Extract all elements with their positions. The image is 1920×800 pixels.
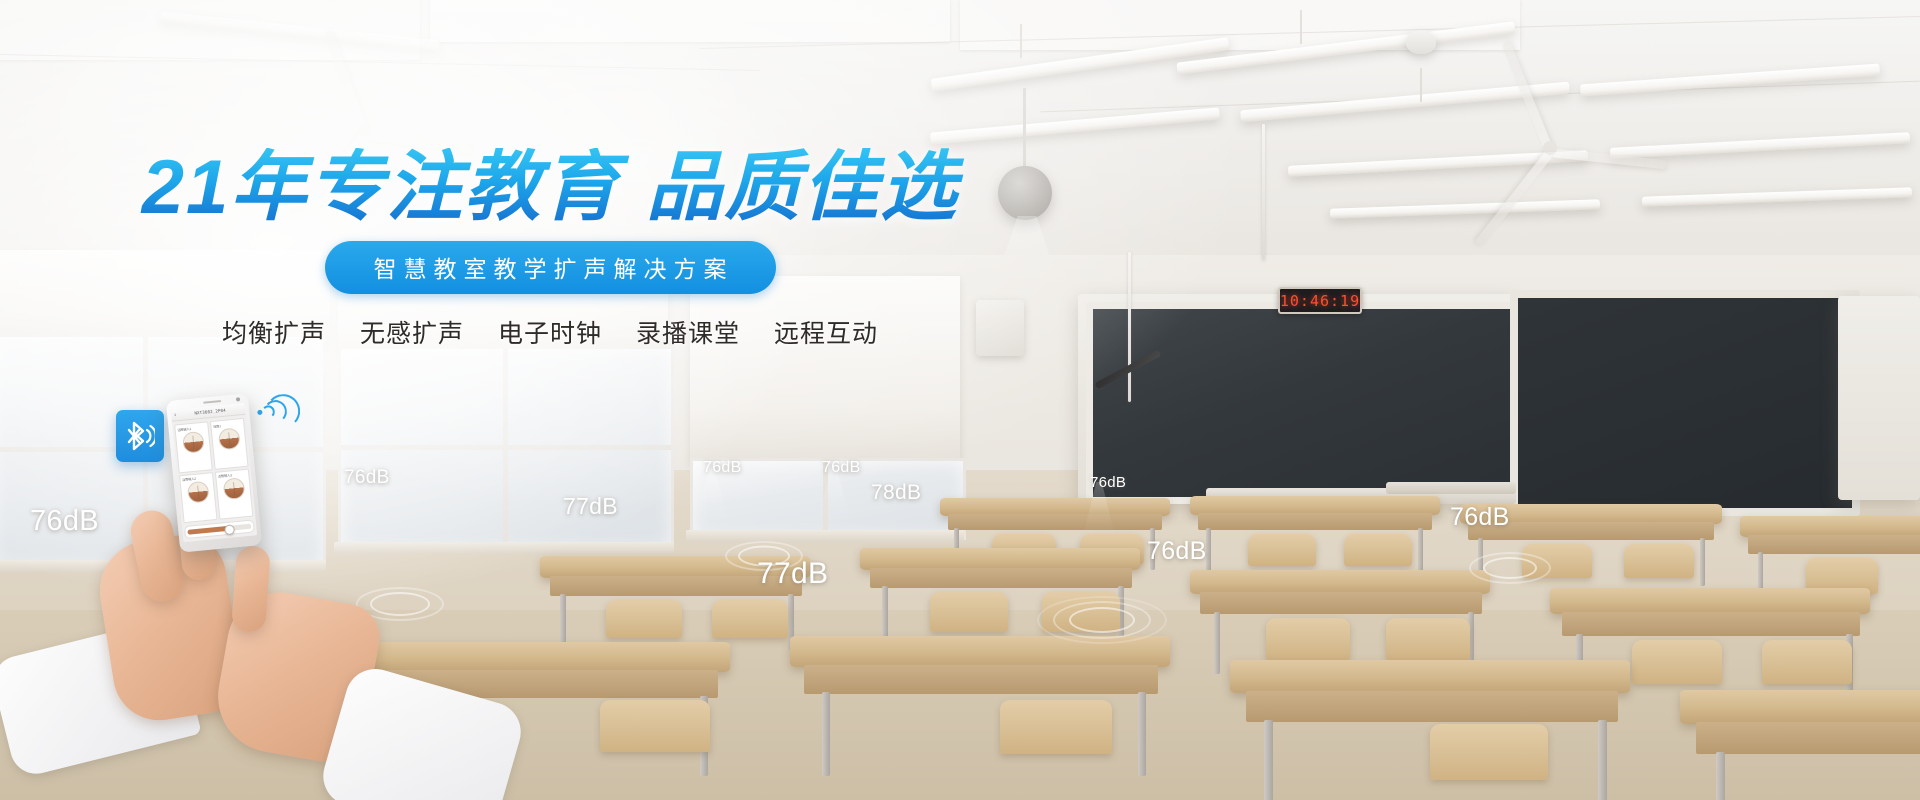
volume-knob[interactable]	[217, 427, 240, 450]
ceiling-fan	[1430, 108, 1670, 188]
feature-item: 远程互动	[774, 314, 878, 350]
channel-card-grid: 话筒输入1线路1话筒输入2话筒输入3	[172, 415, 256, 527]
clock-time: 10:46:19	[1280, 292, 1360, 310]
volume-knob[interactable]	[186, 481, 209, 504]
window-sill	[686, 530, 964, 542]
db-label: 77dB	[757, 557, 828, 591]
db-label: 76dB	[344, 467, 390, 489]
bluetooth-audio-icon	[125, 419, 155, 453]
headline-part-2: 品质佳选	[646, 145, 958, 230]
subtitle-pill: 智慧教室教学扩声解决方案	[325, 241, 776, 294]
smartphone[interactable]: ‹ NXT3602_2P04 话筒输入1线路1话筒输入2话筒输入3	[166, 393, 262, 552]
feature-item: 电子时钟	[498, 314, 602, 350]
back-icon[interactable]: ‹	[174, 412, 177, 418]
channel-card[interactable]: 话筒输入2	[179, 472, 217, 524]
microphone-stand	[1128, 252, 1131, 402]
ceiling-panel	[0, 0, 420, 60]
volume-knob[interactable]	[181, 430, 204, 453]
chair	[600, 700, 710, 752]
volume-knob[interactable]	[222, 477, 245, 500]
feature-list: 均衡扩声无感扩声电子时钟录播课堂远程互动	[0, 314, 1100, 350]
channel-card[interactable]: 话筒输入1	[174, 421, 212, 473]
ceiling-panel	[430, 0, 950, 42]
interactive-display-panel[interactable]	[1510, 290, 1860, 516]
slider-track	[187, 524, 251, 535]
feature-item: 均衡扩声	[222, 314, 326, 350]
bluetooth-badge	[116, 410, 164, 462]
blackboard-right-wing	[1838, 296, 1920, 500]
phone-camera	[236, 397, 240, 401]
feature-item: 无感扩声	[360, 314, 464, 350]
db-label: 76dB	[1147, 537, 1207, 566]
chalk-tray-extension	[1386, 482, 1516, 494]
light-stem	[1420, 68, 1422, 102]
db-label: 76dB	[703, 459, 742, 477]
channel-label: 话筒输入1	[177, 425, 191, 431]
feature-item: 录播课堂	[636, 314, 740, 350]
db-label: 76dB	[30, 505, 99, 538]
headline-part-1: 21年专注教育	[142, 145, 621, 230]
db-label: 76dB	[822, 459, 861, 477]
db-label: 76dB	[1450, 503, 1510, 532]
phone-earpiece	[203, 400, 221, 404]
db-label: 76dB	[1090, 474, 1126, 491]
channel-label: 线路1	[213, 423, 221, 429]
window	[338, 346, 674, 552]
window-sill	[0, 560, 326, 572]
db-label: 78dB	[871, 481, 921, 505]
channel-card[interactable]: 线路1	[210, 418, 248, 470]
ceiling-dome-speaker	[1406, 30, 1436, 54]
hero-text-block: 21年专注教育品质佳选 智慧教室教学扩声解决方案 均衡扩声无感扩声电子时钟录播课…	[0, 148, 1100, 350]
light-stem	[1300, 10, 1302, 44]
light-stem	[1020, 24, 1022, 58]
channel-card[interactable]: 话筒输入3	[215, 468, 253, 520]
hero-banner: 10:46:19	[0, 0, 1920, 800]
window-sill	[334, 542, 674, 554]
electronic-clock: 10:46:19	[1278, 287, 1362, 314]
blackboard-surface	[1086, 302, 1520, 504]
microphone-stand	[1262, 124, 1265, 260]
chair	[1430, 724, 1548, 780]
phone-screen[interactable]: ‹ NXT3602_2P04 话筒输入1线路1话筒输入2话筒输入3	[171, 403, 257, 542]
db-label: 77dB	[563, 493, 618, 520]
page-title: 21年专注教育品质佳选	[0, 148, 1100, 227]
chair	[1000, 700, 1112, 754]
